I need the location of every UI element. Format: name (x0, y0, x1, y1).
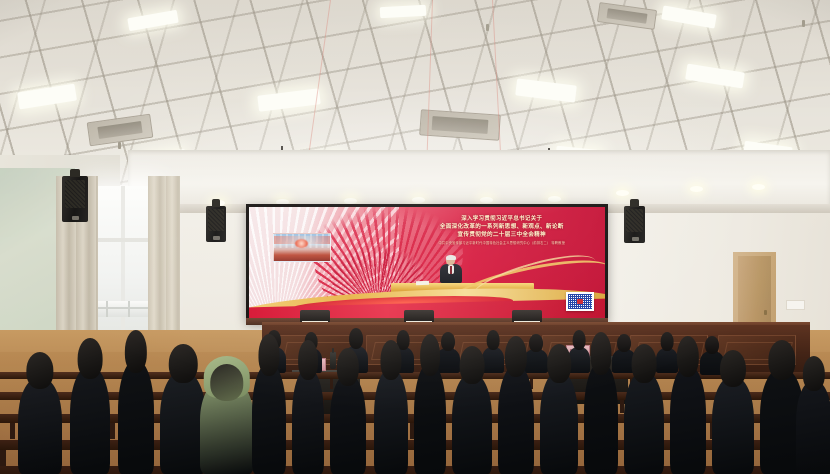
person-head (590, 332, 611, 375)
person-torso (252, 364, 286, 474)
figure-hair (446, 255, 456, 260)
curtain-right (148, 176, 180, 352)
speaker-bracket-icon (630, 199, 638, 207)
speaker-badge-icon (213, 236, 220, 240)
person-head (420, 334, 440, 376)
speaker-badge-icon (72, 216, 79, 220)
audience-member (452, 346, 492, 474)
recessed-downlight (752, 184, 765, 190)
speaker-grille-icon (208, 209, 224, 231)
screen-inset-photo (273, 233, 331, 262)
screen-speaker-figure (436, 256, 466, 286)
wall-speaker-right (624, 206, 645, 243)
speaker-bracket-icon (70, 169, 80, 177)
person-torso (118, 361, 154, 474)
person-torso (796, 381, 830, 474)
audience-member (712, 350, 754, 474)
wall-switch-plate[interactable] (786, 300, 805, 310)
screen-qr-card (566, 292, 594, 311)
figure-tie (450, 266, 452, 274)
recessed-downlight (690, 186, 703, 192)
person-head (632, 344, 657, 383)
audience-member (70, 338, 110, 474)
audience-member (670, 336, 706, 474)
person-torso (670, 366, 706, 474)
person-torso (374, 369, 408, 474)
led-screen: 深入学习贯彻习近平总书记关于 全面深化改革的一系列新思想、新观点、新论断 宣传贯… (249, 207, 605, 319)
window-mullion-horizontal (92, 238, 154, 242)
vent-louvers-icon (432, 116, 489, 133)
audience-member (414, 334, 446, 474)
person-head (720, 350, 746, 387)
audience-member (330, 348, 366, 474)
speaker-bracket-icon (212, 199, 220, 207)
audience-member (18, 352, 62, 474)
inset-sun-icon (295, 239, 308, 248)
screen-headline-line2: 全面深化改革的一系列新思想、新观点、新论断 (406, 224, 598, 231)
person-torso (624, 372, 664, 474)
bench-leg (110, 423, 115, 439)
vent-louvers-icon (97, 121, 143, 139)
person-head (349, 328, 363, 349)
person-head (125, 330, 147, 373)
person-torso (414, 364, 446, 474)
person-head (298, 340, 318, 380)
speaker-grille-icon (626, 209, 643, 232)
recessed-downlight (548, 196, 561, 202)
wall-speaker-left (62, 176, 88, 222)
audience-member (584, 332, 618, 474)
screen-headline-block: 深入学习贯彻习近平总书记关于 全面深化改革的一系列新思想、新观点、新论断 宣传贯… (406, 216, 598, 245)
person-torso (330, 375, 366, 474)
audience-member (118, 330, 154, 474)
audience-member (498, 336, 534, 474)
screen-subline: 中共中央宣传部习近平新时代中国特色社会主义思想研究中心（前排右二） 特聘教授 (406, 242, 598, 246)
person-head (677, 336, 699, 377)
person-head (803, 356, 825, 391)
person-head (258, 334, 279, 376)
person-head (380, 340, 401, 380)
person-torso (70, 367, 110, 474)
person-head (337, 348, 359, 386)
person-head (78, 338, 103, 379)
audience-member (200, 352, 254, 474)
person-head (505, 336, 527, 377)
person-torso (540, 372, 578, 474)
screen-soffit (128, 150, 830, 212)
audience-member (252, 334, 286, 474)
person-head (547, 344, 571, 383)
person-torso (452, 374, 492, 474)
exterior-window (92, 186, 154, 338)
screen-podium-papers (416, 281, 429, 285)
ceiling-ac-vent (419, 109, 501, 141)
recessed-downlight (616, 190, 629, 196)
recessed-downlight (480, 197, 493, 203)
person-torso (712, 377, 754, 474)
vent-louvers-icon (606, 8, 647, 24)
screen-headline-line1: 深入学习贯彻习近平总书记关于 (406, 216, 598, 222)
person-head (169, 344, 198, 383)
person-head (768, 340, 795, 380)
sprinkler-head (486, 24, 489, 31)
door-handle-icon[interactable] (764, 310, 767, 315)
led-screen-frame: 深入学习贯彻习近平总书记关于 全面深化改革的一系列新思想、新观点、新论断 宣传贯… (246, 204, 608, 322)
sprinkler-head (118, 142, 121, 149)
recessed-downlight (412, 197, 425, 203)
audience-member (624, 344, 664, 474)
speaker-grille-icon (65, 180, 86, 209)
person-head (460, 346, 485, 384)
person-torso (498, 366, 534, 474)
qr-code-icon (568, 294, 592, 309)
audience-member (374, 340, 408, 474)
sprinkler-head (802, 20, 805, 27)
audience-member (540, 344, 578, 474)
bench-leg (10, 423, 15, 439)
window-balcony-rail (94, 301, 151, 317)
speaker-badge-icon (632, 237, 639, 241)
person-head (26, 352, 53, 389)
screen-headline-line3: 宣传贯彻党的二十届三中全会精神 (406, 232, 598, 239)
audience-member (796, 356, 830, 474)
person-head (210, 364, 243, 401)
audience-member (292, 340, 324, 474)
person-torso (292, 369, 324, 474)
conference-hall-photo: 深入学习贯彻习近平总书记关于 全面深化改革的一系列新思想、新观点、新论断 宣传贯… (0, 0, 830, 474)
wall-speaker-left-far (206, 206, 226, 242)
person-torso (18, 378, 62, 474)
person-torso (584, 363, 618, 474)
